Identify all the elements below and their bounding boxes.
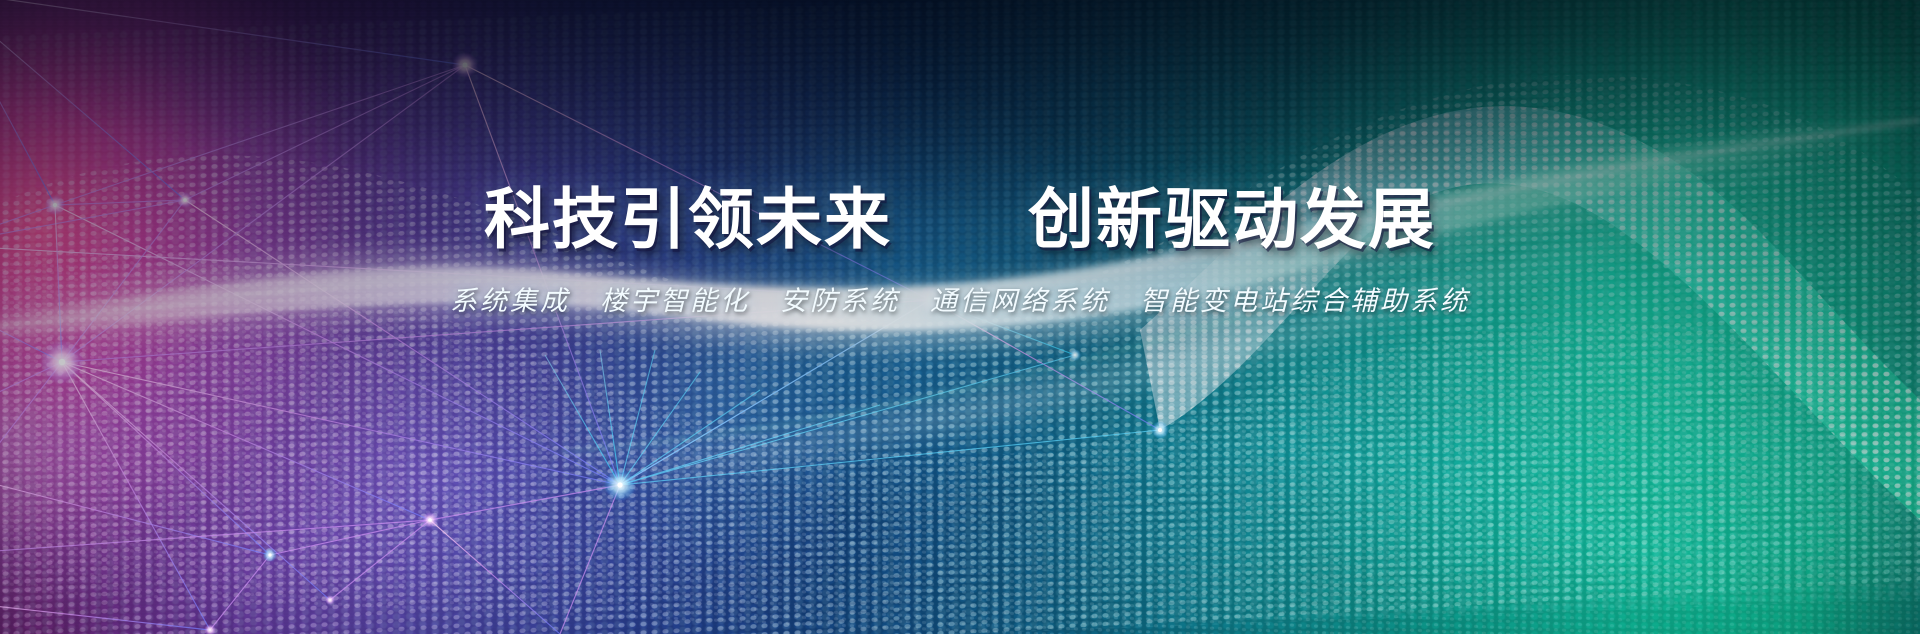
scanline-grain-overlay bbox=[0, 0, 1920, 634]
hero-banner: 科技引领未来 创新驱动发展 系统集成 楼宇智能化 安防系统 通信网络系统 智能变… bbox=[0, 0, 1920, 634]
